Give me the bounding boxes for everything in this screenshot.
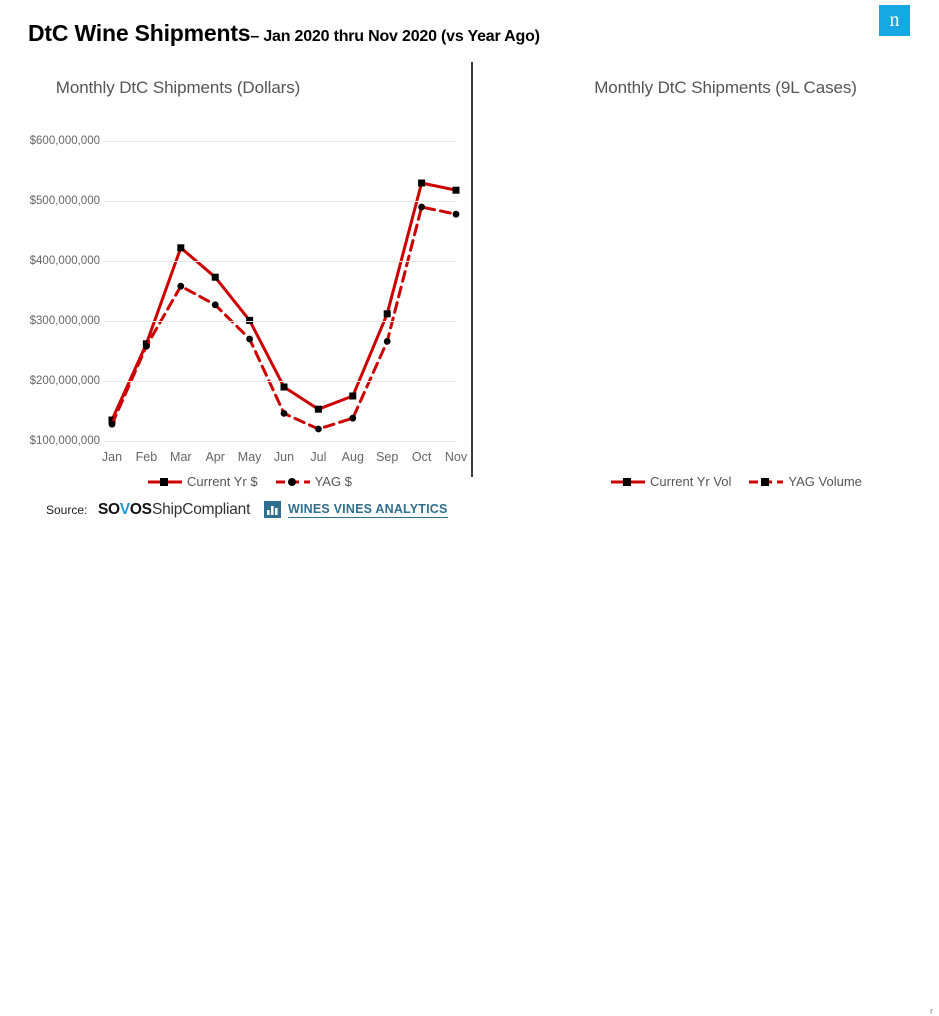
x-axis-tick-label: Feb [136, 450, 158, 464]
chart-panel-cases: Monthly DtC Shipments (9L Cases) 1,000,0… [472, 58, 939, 498]
y-axis-tick-label: $200,000,000 [30, 375, 100, 387]
gridline [103, 441, 456, 442]
gridline [103, 321, 456, 322]
x-axis-tick-label: Jan [102, 450, 122, 464]
source-footer: Source: SOVOS ShipCompliant WINES VINES … [0, 498, 939, 522]
gridline [103, 261, 456, 262]
gridline [103, 381, 456, 382]
sovos-part-1: SO [98, 501, 120, 518]
wines-vines-bars-icon [264, 501, 281, 518]
data-point-marker [246, 336, 253, 343]
chart-title-dollars: Monthly DtC Shipments (Dollars) [0, 78, 414, 98]
wines-vines-analytics-label: WINES VINES ANALYTICS [288, 502, 448, 518]
x-axis-tick-label: Sep [376, 450, 398, 464]
legend-dollars: Current Yr $ YAG $ [148, 474, 352, 489]
data-point-marker [109, 421, 116, 428]
legend-label-yag-dollars: YAG $ [315, 474, 352, 489]
data-point-marker [418, 180, 425, 187]
x-axis-tick-label: Oct [412, 450, 431, 464]
data-point-marker [281, 384, 288, 391]
x-axis-tick-label: Aug [342, 450, 364, 464]
x-axis-tick-label: Nov [445, 450, 467, 464]
data-point-marker [212, 274, 219, 281]
y-axis-tick-label: $300,000,000 [30, 315, 100, 327]
data-point-marker [212, 301, 219, 308]
series-lines-dollars [112, 141, 456, 441]
legend-item-yag-volume[interactable]: YAG Volume [749, 474, 861, 489]
brand-logo-icon: n [879, 5, 910, 36]
y-axis-tick-label: $500,000,000 [30, 195, 100, 207]
sovos-logo: SOVOS [98, 501, 152, 519]
data-point-marker [177, 244, 184, 251]
legend-label-current-yr-dollars: Current Yr $ [187, 474, 258, 489]
data-point-marker [315, 406, 322, 413]
title-main: DtC Wine Shipments [28, 20, 250, 46]
data-point-marker [349, 415, 356, 422]
x-axis-tick-label: Mar [170, 450, 192, 464]
x-axis-tick-label: May [238, 450, 262, 464]
legend-label-current-yr-vol: Current Yr Vol [650, 474, 731, 489]
data-point-marker [453, 187, 460, 194]
corner-mark: r [930, 1006, 933, 1016]
legend-swatch-solid-square-icon [148, 476, 182, 488]
legend-item-current-yr-dollars[interactable]: Current Yr $ [148, 474, 258, 489]
y-axis-tick-label: $100,000,000 [30, 435, 100, 447]
shipcompliant-label: ShipCompliant [152, 501, 250, 519]
plot-area-dollars: $600,000,000$500,000,000$400,000,000$300… [112, 141, 456, 441]
sovos-part-slash: V [120, 501, 130, 518]
data-point-marker [453, 211, 460, 218]
page-header: DtC Wine Shipments– Jan 2020 thru Nov 20… [0, 0, 939, 58]
data-point-marker [384, 310, 391, 317]
x-axis-tick-label: Apr [205, 450, 224, 464]
bar-chart-glyph-icon [264, 501, 281, 518]
data-point-marker [177, 283, 184, 290]
y-axis-tick-label: $600,000,000 [30, 135, 100, 147]
legend-swatch-solid-square-icon [611, 476, 645, 488]
legend-swatch-dashed-circle-icon [276, 476, 310, 488]
data-point-marker [143, 343, 150, 350]
legend-swatch-dashed-square-icon [749, 476, 783, 488]
data-point-marker [418, 204, 425, 211]
source-label: Source: [46, 503, 87, 517]
gridline [103, 201, 456, 202]
title-subtitle: – Jan 2020 thru Nov 2020 (vs Year Ago) [250, 28, 539, 45]
x-axis-tick-label: Jun [274, 450, 294, 464]
chart-title-cases: Monthly DtC Shipments (9L Cases) [492, 78, 939, 98]
data-point-marker [315, 426, 322, 433]
data-point-marker [281, 410, 288, 417]
data-point-marker [349, 393, 356, 400]
gridline [103, 141, 456, 142]
legend-label-yag-volume: YAG Volume [788, 474, 861, 489]
y-axis-tick-label: $400,000,000 [30, 255, 100, 267]
legend-cases: Current Yr Vol YAG Volume [611, 474, 862, 489]
legend-item-yag-dollars[interactable]: YAG $ [276, 474, 352, 489]
sovos-part-2: OS [130, 501, 152, 518]
page-title: DtC Wine Shipments– Jan 2020 thru Nov 20… [28, 20, 540, 47]
data-point-marker [384, 338, 391, 345]
series-line [112, 207, 456, 429]
legend-item-current-yr-vol[interactable]: Current Yr Vol [611, 474, 731, 489]
x-axis-tick-label: Jul [310, 450, 326, 464]
chart-panel-dollars: Monthly DtC Shipments (Dollars) $600,000… [0, 58, 472, 498]
